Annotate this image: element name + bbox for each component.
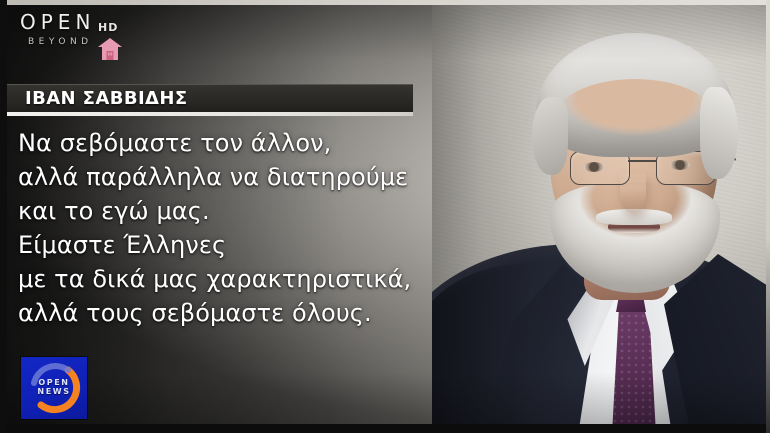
channel-logo-tagline: BEYOND [28, 37, 93, 47]
speaker-portrait [432, 5, 766, 424]
channel-logo[interactable]: OPEN BEYOND HD [20, 12, 140, 66]
hd-badge: HD [98, 21, 118, 34]
lower-third-underline [7, 112, 413, 116]
hair-side-left [532, 97, 568, 175]
channel-logo-word: OPEN [20, 12, 140, 32]
frame-edge-bottom [0, 424, 770, 433]
open-news-line2: NEWS [21, 387, 87, 396]
quote-line: αλλά παράλληλα να διατηρούμε [18, 160, 448, 194]
broadcast-quote-card: OPEN BEYOND HD ΙΒΑΝ ΣΑΒΒΙΔΗΣ Να σεβόμαστ… [0, 0, 770, 433]
quote-line: και το εγώ μας. [18, 194, 448, 228]
quote-line: με τα δικά μας χαρακτηριστικά, [18, 262, 448, 296]
speaker-name: ΙΒΑΝ ΣΑΒΒΙΔΗΣ [25, 88, 188, 109]
open-news-bug[interactable]: OPEN NEWS [21, 357, 87, 419]
open-news-label: OPEN NEWS [21, 378, 87, 396]
frame-edge-left [0, 0, 7, 433]
quote-line: Να σεβόμαστε τον άλλον, [18, 126, 448, 160]
open-news-line1: OPEN [21, 378, 87, 387]
frame-edge-right [766, 0, 770, 433]
pink-house-icon [97, 36, 123, 62]
quote-block: Να σεβόμαστε τον άλλον, αλλά παράλληλα ν… [18, 126, 448, 330]
hair-side-right [700, 87, 738, 179]
lower-third-banner: ΙΒΑΝ ΣΑΒΒΙΔΗΣ [7, 84, 413, 112]
quote-line: Είμαστε Έλληνες [18, 228, 448, 262]
frame-edge-top [0, 0, 770, 5]
quote-line: αλλά τους σεβόμαστε όλους. [18, 296, 448, 330]
